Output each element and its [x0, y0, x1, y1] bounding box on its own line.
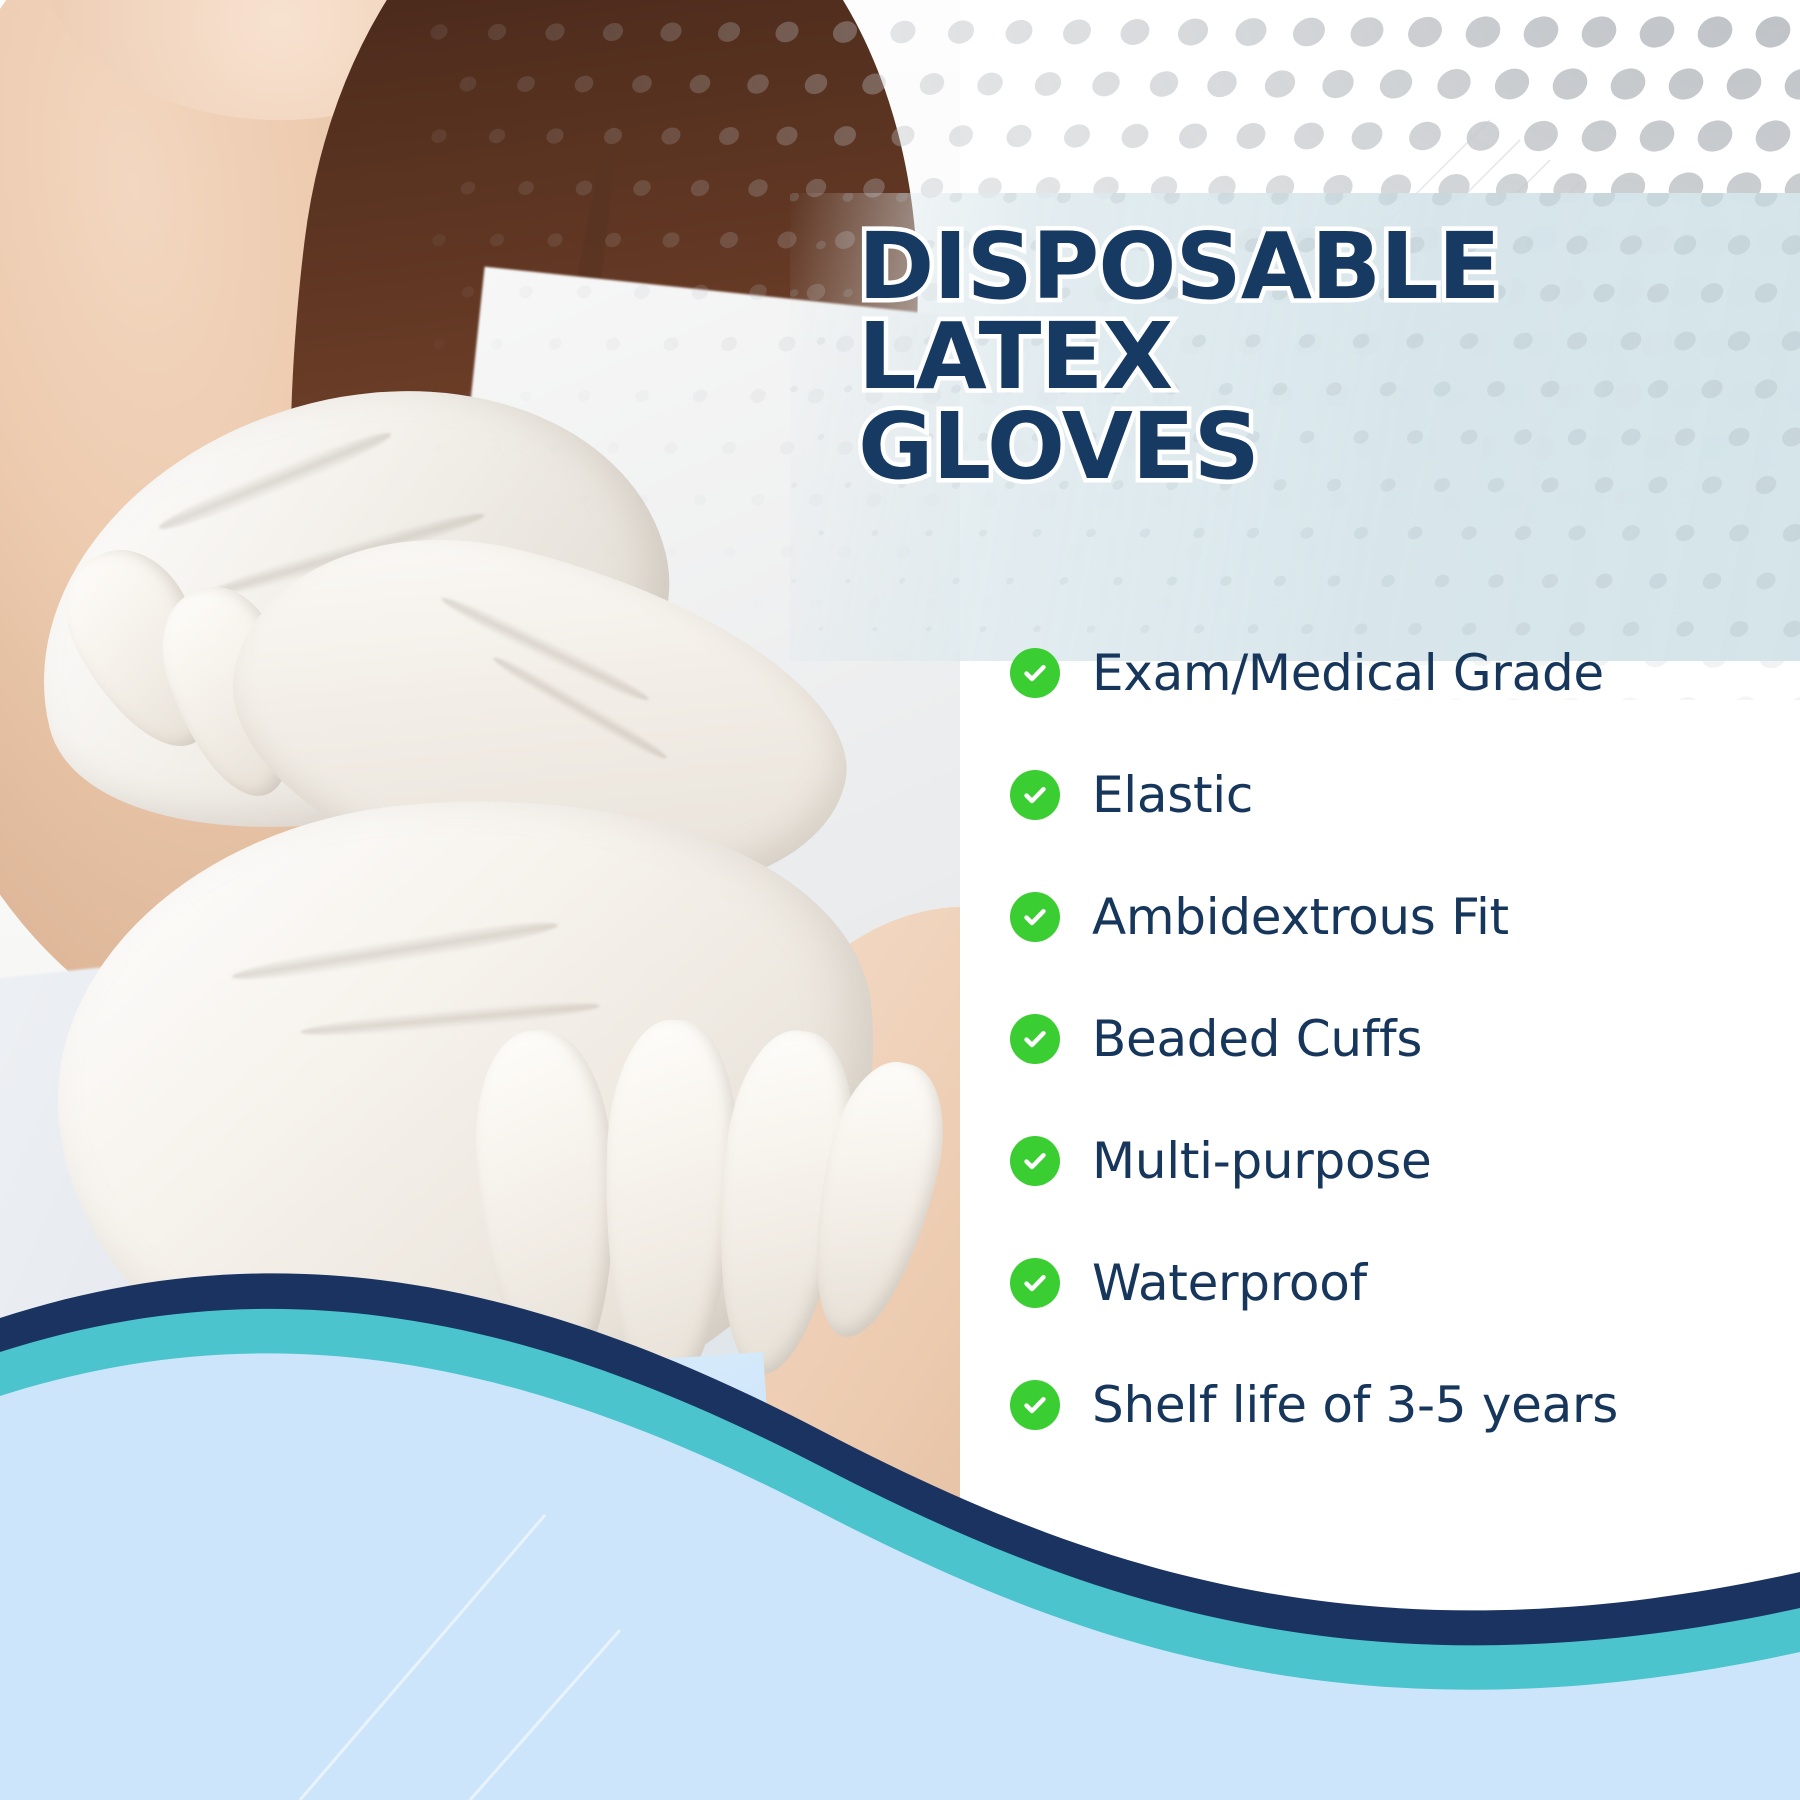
list-item: Beaded Cuffs — [1010, 978, 1800, 1100]
feature-label: Exam/Medical Grade — [1092, 644, 1604, 702]
feature-label: Ambidextrous Fit — [1092, 888, 1509, 946]
feature-label: Shelf life of 3-5 years — [1092, 1376, 1618, 1434]
check-circle-icon — [1010, 1258, 1060, 1308]
check-circle-icon — [1010, 770, 1060, 820]
list-item: Multi-purpose — [1010, 1100, 1800, 1222]
list-item: Shelf life of 3-5 years — [1010, 1344, 1800, 1466]
photo-blue-tray — [0, 1352, 795, 1800]
list-item: Waterproof — [1010, 1222, 1800, 1344]
check-circle-icon — [1010, 1014, 1060, 1064]
feature-label: Multi-purpose — [1092, 1132, 1431, 1190]
feature-label: Beaded Cuffs — [1092, 1010, 1422, 1068]
list-item: Elastic — [1010, 734, 1800, 856]
check-circle-icon — [1010, 892, 1060, 942]
list-item: Exam/Medical Grade — [1010, 612, 1800, 734]
product-poster: DISPOSABLE LATEX GLOVES Exam/Medical Gra… — [0, 0, 1800, 1800]
check-circle-icon — [1010, 1136, 1060, 1186]
feature-label: Waterproof — [1092, 1254, 1367, 1312]
check-circle-icon — [1010, 1380, 1060, 1430]
feature-list: Exam/Medical Grade Elastic Ambidextrous … — [1010, 612, 1800, 1466]
feature-label: Elastic — [1092, 766, 1253, 824]
check-circle-icon — [1010, 648, 1060, 698]
page-title: DISPOSABLE LATEX GLOVES — [858, 222, 1798, 492]
list-item: Ambidextrous Fit — [1010, 856, 1800, 978]
